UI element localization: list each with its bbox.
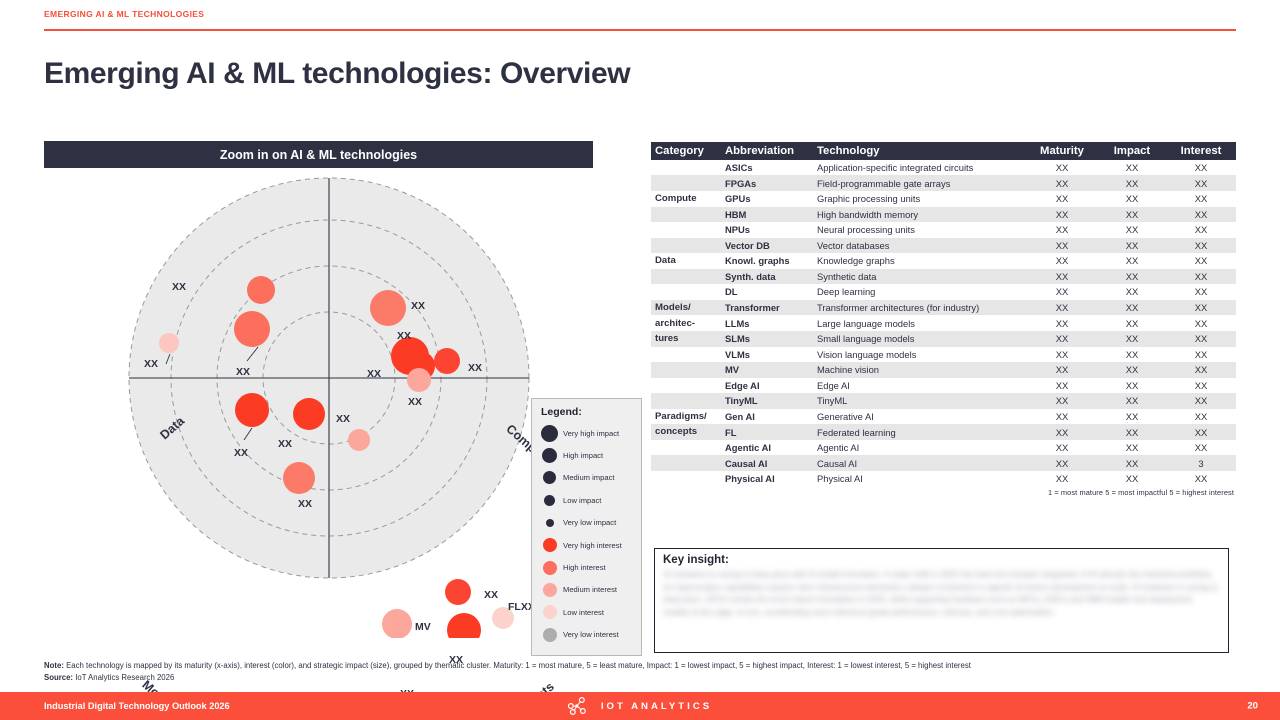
cell-impact: XX xyxy=(1098,362,1166,377)
col-header-category: Category xyxy=(651,142,721,160)
legend-item-label: High impact xyxy=(563,451,603,460)
footer-bar: Industrial Digital Technology Outlook 20… xyxy=(0,692,1280,720)
cell-maturity: XX xyxy=(1026,440,1098,455)
legend-item-label: Very low impact xyxy=(563,518,616,527)
cell-technology: Large language models xyxy=(813,315,1026,331)
cell-abbreviation: Agentic AI xyxy=(721,440,813,455)
cell-impact: XX xyxy=(1098,207,1166,222)
col-header-impact: Impact xyxy=(1098,142,1166,160)
bubble-point-label: XX xyxy=(397,330,411,342)
cell-category xyxy=(651,440,721,455)
cell-abbreviation: HBM xyxy=(721,207,813,222)
table-row[interactable]: DLDeep learningXXXXXX xyxy=(651,284,1236,299)
cell-technology: Small language models xyxy=(813,331,1026,347)
cell-interest: XX xyxy=(1166,238,1236,253)
cell-technology: Edge AI xyxy=(813,378,1026,393)
cell-interest: XX xyxy=(1166,253,1236,269)
table-row[interactable]: TinyMLTinyMLXXXXXX xyxy=(651,393,1236,408)
legend-swatch-box xyxy=(541,561,563,575)
table-row[interactable]: Models/TransformerTransformer architectu… xyxy=(651,300,1236,316)
cell-technology: High bandwidth memory xyxy=(813,207,1026,222)
cell-interest: XX xyxy=(1166,284,1236,299)
cell-impact: XX xyxy=(1098,440,1166,455)
col-header-maturity: Maturity xyxy=(1026,142,1098,160)
table-row[interactable]: ComputeGPUsGraphic processing unitsXXXXX… xyxy=(651,191,1236,207)
legend-item: Medium impact xyxy=(541,467,633,489)
cell-category xyxy=(651,378,721,393)
legend-swatch-icon xyxy=(542,448,557,463)
cell-abbreviation: LLMs xyxy=(721,315,813,331)
cell-technology: Deep learning xyxy=(813,284,1026,299)
table-header-row: Category Abbreviation Technology Maturit… xyxy=(651,142,1236,160)
bubble-point[interactable] xyxy=(293,398,325,430)
legend-item-label: Very high impact xyxy=(563,429,619,438)
cell-abbreviation: NPUs xyxy=(721,222,813,237)
legend-swatch-box xyxy=(541,495,563,506)
legend-swatch-icon xyxy=(546,519,554,527)
cell-category xyxy=(651,362,721,377)
cell-category xyxy=(651,160,721,175)
cell-interest: XX xyxy=(1166,440,1236,455)
chart-legend: Legend: Very high impactHigh impactMediu… xyxy=(531,398,642,656)
chart-panel: Zoom in on AI & ML technologies Data Com… xyxy=(44,141,594,651)
cell-impact: XX xyxy=(1098,191,1166,207)
cell-abbreviation: Causal AI xyxy=(721,455,813,470)
legend-swatch-icon xyxy=(543,471,556,484)
note-label: Note: xyxy=(44,661,64,670)
cell-interest: XX xyxy=(1166,191,1236,207)
bubble-point[interactable] xyxy=(348,429,370,451)
table-row[interactable]: Vector DBVector databasesXXXXXX xyxy=(651,238,1236,253)
cell-maturity: XX xyxy=(1026,471,1098,486)
cell-category xyxy=(651,207,721,222)
cell-maturity: XX xyxy=(1026,253,1098,269)
table-row[interactable]: Causal AICausal AIXXXX3 xyxy=(651,455,1236,470)
legend-swatch-icon xyxy=(543,538,557,552)
cell-maturity: XX xyxy=(1026,238,1098,253)
cell-maturity: XX xyxy=(1026,315,1098,331)
slide-root: EMERGING AI & ML TECHNOLOGIES Emerging A… xyxy=(0,0,1280,720)
cell-interest: XX xyxy=(1166,331,1236,347)
cell-interest: XX xyxy=(1166,393,1236,408)
cell-maturity: XX xyxy=(1026,409,1098,425)
legend-item: Low impact xyxy=(541,489,633,511)
bubble-point[interactable] xyxy=(407,368,431,392)
bubble-point-label: MV xyxy=(415,621,431,633)
cell-category xyxy=(651,393,721,408)
cell-abbreviation: GPUs xyxy=(721,191,813,207)
cell-technology: Neural processing units xyxy=(813,222,1026,237)
cell-maturity: XX xyxy=(1026,331,1098,347)
cell-category xyxy=(651,222,721,237)
radar-chart-svg xyxy=(44,168,594,638)
cell-technology: Synthetic data xyxy=(813,269,1026,284)
eyebrow-label: EMERGING AI & ML TECHNOLOGIES xyxy=(44,9,204,19)
cell-interest: XX xyxy=(1166,424,1236,440)
cell-maturity: XX xyxy=(1026,269,1098,284)
cell-category xyxy=(651,238,721,253)
cell-abbreviation: Synth. data xyxy=(721,269,813,284)
cell-interest: XX xyxy=(1166,222,1236,237)
legend-item-label: Low impact xyxy=(563,496,601,505)
note-line: Note: Each technology is mapped by its m… xyxy=(44,660,1239,672)
legend-item-label: Medium impact xyxy=(563,473,614,482)
cell-impact: XX xyxy=(1098,393,1166,408)
cell-abbreviation: SLMs xyxy=(721,331,813,347)
cell-maturity: XX xyxy=(1026,160,1098,175)
legend-item-label: Very low interest xyxy=(563,630,619,639)
bubble-point[interactable] xyxy=(447,613,481,638)
cell-category: Compute xyxy=(651,191,721,207)
key-insight-body: AI hardware is racing to keep pace with … xyxy=(663,569,1220,620)
cell-technology: Field-programmable gate arrays xyxy=(813,175,1026,190)
cell-abbreviation: Gen AI xyxy=(721,409,813,425)
cell-category: tures xyxy=(651,331,721,347)
cell-impact: XX xyxy=(1098,222,1166,237)
cell-impact: XX xyxy=(1098,238,1166,253)
cell-technology: Transformer architectures (for industry) xyxy=(813,300,1026,316)
cell-category: Paradigms/ xyxy=(651,409,721,425)
cell-category xyxy=(651,455,721,470)
bubble-point[interactable] xyxy=(247,276,275,304)
bubble-point-label: XX xyxy=(411,300,425,312)
cell-technology: Application-specific integrated circuits xyxy=(813,160,1026,175)
cell-interest: XX xyxy=(1166,175,1236,190)
bubble-point-label: XX xyxy=(278,438,292,450)
cell-abbreviation: Edge AI xyxy=(721,378,813,393)
cell-impact: XX xyxy=(1098,269,1166,284)
cell-category: Models/ xyxy=(651,300,721,316)
cell-maturity: XX xyxy=(1026,191,1098,207)
bubble-point-label: XX xyxy=(367,368,381,380)
table-row[interactable]: conceptsFLFederated learningXXXXXX xyxy=(651,424,1236,440)
legend-item: High impact xyxy=(541,444,633,466)
legend-swatch-box xyxy=(541,425,563,442)
table-row[interactable]: VLMsVision language modelsXXXXXX xyxy=(651,347,1236,362)
legend-swatch-icon xyxy=(543,628,557,642)
source-text: IoT Analytics Research 2026 xyxy=(73,673,174,682)
legend-swatch-box xyxy=(541,538,563,552)
note-text: Each technology is mapped by its maturit… xyxy=(64,661,971,670)
footer-logo: IOT ANALYTICS xyxy=(568,697,712,715)
footer-page-number: 20 xyxy=(1247,701,1258,712)
cell-abbreviation: DL xyxy=(721,284,813,299)
radar-chart: Data Compute Models/architectures Paradi… xyxy=(44,168,594,638)
table-row[interactable]: Paradigms/Gen AIGenerative AIXXXXXX xyxy=(651,409,1236,425)
cell-technology: Federated learning xyxy=(813,424,1026,440)
cell-impact: XX xyxy=(1098,347,1166,362)
cell-technology: TinyML xyxy=(813,393,1026,408)
cell-abbreviation: MV xyxy=(721,362,813,377)
cell-abbreviation: Vector DB xyxy=(721,238,813,253)
cell-maturity: XX xyxy=(1026,424,1098,440)
legend-item: Very low impact xyxy=(541,512,633,534)
cell-interest: XX xyxy=(1166,269,1236,284)
cell-interest: XX xyxy=(1166,378,1236,393)
cell-technology: Physical AI xyxy=(813,471,1026,486)
cell-technology: Generative AI xyxy=(813,409,1026,425)
chart-header-bar: Zoom in on AI & ML technologies xyxy=(44,141,593,168)
cell-interest: XX xyxy=(1166,362,1236,377)
cell-abbreviation: ASICs xyxy=(721,160,813,175)
cell-abbreviation: FL xyxy=(721,424,813,440)
legend-item-label: Medium interest xyxy=(563,585,617,594)
bubble-point[interactable] xyxy=(382,609,412,638)
legend-title: Legend: xyxy=(541,406,633,418)
cell-impact: XX xyxy=(1098,160,1166,175)
cell-impact: XX xyxy=(1098,175,1166,190)
col-header-interest: Interest xyxy=(1166,142,1236,160)
col-header-technology: Technology xyxy=(813,142,1026,160)
cell-impact: XX xyxy=(1098,378,1166,393)
legend-swatch-box xyxy=(541,605,563,619)
table-row[interactable]: NPUsNeural processing unitsXXXXXX xyxy=(651,222,1236,237)
legend-swatch-box xyxy=(541,448,563,463)
bubble-point[interactable] xyxy=(445,579,471,605)
cell-maturity: XX xyxy=(1026,207,1098,222)
cell-impact: XX xyxy=(1098,471,1166,486)
cell-technology: Vision language models xyxy=(813,347,1026,362)
bubble-point[interactable] xyxy=(234,311,270,347)
cell-maturity: XX xyxy=(1026,222,1098,237)
cell-category: concepts xyxy=(651,424,721,440)
cell-technology: Causal AI xyxy=(813,455,1026,470)
legend-swatch-icon xyxy=(541,425,558,442)
table-row[interactable]: FPGAsField-programmable gate arraysXXXXX… xyxy=(651,175,1236,190)
cell-technology: Agentic AI xyxy=(813,440,1026,455)
page-title: Emerging AI & ML technologies: Overview xyxy=(44,57,630,91)
legend-swatch-icon xyxy=(544,495,555,506)
cell-category xyxy=(651,269,721,284)
footer-brand-text: IOT ANALYTICS xyxy=(601,701,712,712)
key-insight-box: Key insight: AI hardware is racing to ke… xyxy=(654,548,1229,653)
bubble-point-label: XX xyxy=(236,366,250,378)
cell-abbreviation: Transformer xyxy=(721,300,813,316)
legend-rows: Very high impactHigh impactMedium impact… xyxy=(541,422,633,646)
source-line: Source: IoT Analytics Research 2026 xyxy=(44,672,1239,684)
bubble-point-label: XX xyxy=(468,362,482,374)
table-scale-note: 1 = most mature 5 = most impactful 5 = h… xyxy=(651,488,1236,497)
table-row[interactable]: architec-LLMsLarge language modelsXXXXXX xyxy=(651,315,1236,331)
cell-impact: XX xyxy=(1098,455,1166,470)
table-row[interactable]: Synth. dataSynthetic dataXXXXXX xyxy=(651,269,1236,284)
technology-table: Category Abbreviation Technology Maturit… xyxy=(651,142,1236,486)
iot-analytics-logo-icon xyxy=(568,697,594,715)
cell-abbreviation: Knowl. graphs xyxy=(721,253,813,269)
cell-impact: XX xyxy=(1098,424,1166,440)
legend-item-label: Low interest xyxy=(563,608,604,617)
cell-impact: XX xyxy=(1098,300,1166,316)
table-row[interactable]: Agentic AIAgentic AIXXXXXX xyxy=(651,440,1236,455)
legend-swatch-box xyxy=(541,471,563,484)
cell-impact: XX xyxy=(1098,284,1166,299)
cell-interest: XX xyxy=(1166,160,1236,175)
table-row[interactable]: Edge AIEdge AIXXXXXX xyxy=(651,378,1236,393)
cell-category: architec- xyxy=(651,315,721,331)
cell-abbreviation: Physical AI xyxy=(721,471,813,486)
col-header-abbreviation: Abbreviation xyxy=(721,142,813,160)
cell-interest: XX xyxy=(1166,471,1236,486)
legend-item: High interest xyxy=(541,556,633,578)
cell-maturity: XX xyxy=(1026,347,1098,362)
legend-swatch-icon xyxy=(543,561,557,575)
legend-item: Low interest xyxy=(541,601,633,623)
cell-category: Data xyxy=(651,253,721,269)
bubble-point[interactable] xyxy=(283,462,315,494)
cell-technology: Vector databases xyxy=(813,238,1026,253)
table-row[interactable]: MVMachine visionXXXXXX xyxy=(651,362,1236,377)
cell-category xyxy=(651,284,721,299)
legend-item: Medium interest xyxy=(541,579,633,601)
legend-item: Very low interest xyxy=(541,624,633,646)
footer-deck-title: Industrial Digital Technology Outlook 20… xyxy=(44,701,230,711)
cell-maturity: XX xyxy=(1026,175,1098,190)
cell-abbreviation: VLMs xyxy=(721,347,813,362)
cell-technology: Machine vision xyxy=(813,362,1026,377)
cell-interest: 3 xyxy=(1166,455,1236,470)
cell-category xyxy=(651,347,721,362)
notes-block: Note: Each technology is mapped by its m… xyxy=(44,660,1239,683)
cell-impact: XX xyxy=(1098,253,1166,269)
bubble-point-label: XX xyxy=(298,498,312,510)
table-body: ASICsApplication-specific integrated cir… xyxy=(651,160,1236,486)
cell-interest: XX xyxy=(1166,300,1236,316)
cell-interest: XX xyxy=(1166,347,1236,362)
header-divider xyxy=(44,29,1236,31)
cell-abbreviation: TinyML xyxy=(721,393,813,408)
legend-swatch-icon xyxy=(543,605,557,619)
legend-item: Very high impact xyxy=(541,422,633,444)
bubble-point-label: XX xyxy=(234,447,248,459)
cell-maturity: XX xyxy=(1026,378,1098,393)
bubble-point[interactable] xyxy=(235,393,269,427)
cell-impact: XX xyxy=(1098,331,1166,347)
legend-swatch-box xyxy=(541,583,563,597)
cell-abbreviation: FPGAs xyxy=(721,175,813,190)
cell-maturity: XX xyxy=(1026,362,1098,377)
cell-category xyxy=(651,471,721,486)
bubble-point[interactable] xyxy=(370,290,406,326)
cell-category xyxy=(651,175,721,190)
technology-table-panel: Category Abbreviation Technology Maturit… xyxy=(651,142,1236,497)
cell-interest: XX xyxy=(1166,315,1236,331)
source-label: Source: xyxy=(44,673,73,682)
bubble-point-label: XX xyxy=(484,589,498,601)
table-row[interactable]: HBMHigh bandwidth memoryXXXXXX xyxy=(651,207,1236,222)
cell-interest: XX xyxy=(1166,207,1236,222)
legend-item-label: Very high interest xyxy=(563,541,622,550)
legend-item: Very high interest xyxy=(541,534,633,556)
cell-maturity: XX xyxy=(1026,300,1098,316)
cell-technology: Knowledge graphs xyxy=(813,253,1026,269)
bubble-point[interactable] xyxy=(434,348,460,374)
cell-impact: XX xyxy=(1098,315,1166,331)
cell-impact: XX xyxy=(1098,409,1166,425)
table-row[interactable]: DataKnowl. graphsKnowledge graphsXXXXXX xyxy=(651,253,1236,269)
legend-swatch-icon xyxy=(543,583,557,597)
bubble-point-label: XX xyxy=(144,358,158,370)
cell-maturity: XX xyxy=(1026,455,1098,470)
cell-interest: XX xyxy=(1166,409,1236,425)
table-row[interactable]: turesSLMsSmall language modelsXXXXXX xyxy=(651,331,1236,347)
key-insight-title: Key insight: xyxy=(663,554,1220,566)
bubble-point-label: XX xyxy=(408,396,422,408)
table-row[interactable]: Physical AIPhysical AIXXXXXX xyxy=(651,471,1236,486)
cell-maturity: XX xyxy=(1026,284,1098,299)
bubble-point-label: XX xyxy=(172,281,186,293)
cell-maturity: XX xyxy=(1026,393,1098,408)
bubble-point-label: XX xyxy=(336,413,350,425)
legend-item-label: High interest xyxy=(563,563,606,572)
legend-swatch-box xyxy=(541,628,563,642)
legend-swatch-box xyxy=(541,519,563,527)
table-row[interactable]: ASICsApplication-specific integrated cir… xyxy=(651,160,1236,175)
cell-technology: Graphic processing units xyxy=(813,191,1026,207)
bubble-point[interactable] xyxy=(159,333,179,353)
